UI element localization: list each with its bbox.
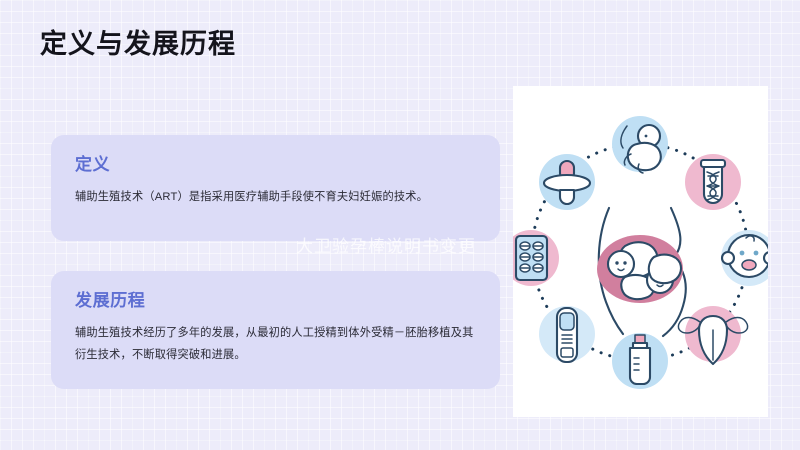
baby-face-icon [721, 230, 768, 286]
card-definition-body: 辅助生殖技术（ART）是指采用医疗辅助手段使不育夫妇妊娠的技术。 [75, 186, 476, 208]
pill-blister-pack-icon [513, 230, 559, 286]
twin-babies-in-womb-icon [597, 235, 683, 303]
card-history-heading: 发展历程 [75, 289, 476, 313]
fertility-illustration: .ol { fill:none; stroke:#2c4a66; stroke-… [513, 86, 768, 417]
card-definition-heading: 定义 [75, 153, 476, 177]
page-title: 定义与发展历程 [40, 27, 236, 61]
uterus-ovaries-icon [678, 306, 747, 364]
card-history-body: 辅助生殖技术经历了多年的发展，从最初的人工授精到体外受精－胚胎移植及其衍生技术，… [75, 322, 476, 366]
illustration-panel: .ol { fill:none; stroke:#2c4a66; stroke-… [513, 86, 768, 417]
card-history: 发展历程 辅助生殖技术经历了多年的发展，从最初的人工授精到体外受精－胚胎移植及其… [51, 271, 500, 389]
fetus-icon [612, 116, 668, 173]
pacifier-icon [539, 154, 595, 210]
dna-test-tube-icon [685, 154, 741, 210]
slide-canvas: 定义与发展历程 大卫验孕棒说明书变更 定义 辅助生殖技术（ART）是指采用医疗辅… [0, 0, 800, 450]
pregnancy-test-icon [539, 306, 595, 362]
baby-bottle-icon [612, 333, 668, 389]
card-definition: 定义 辅助生殖技术（ART）是指采用医疗辅助手段使不育夫妇妊娠的技术。 [51, 135, 500, 241]
